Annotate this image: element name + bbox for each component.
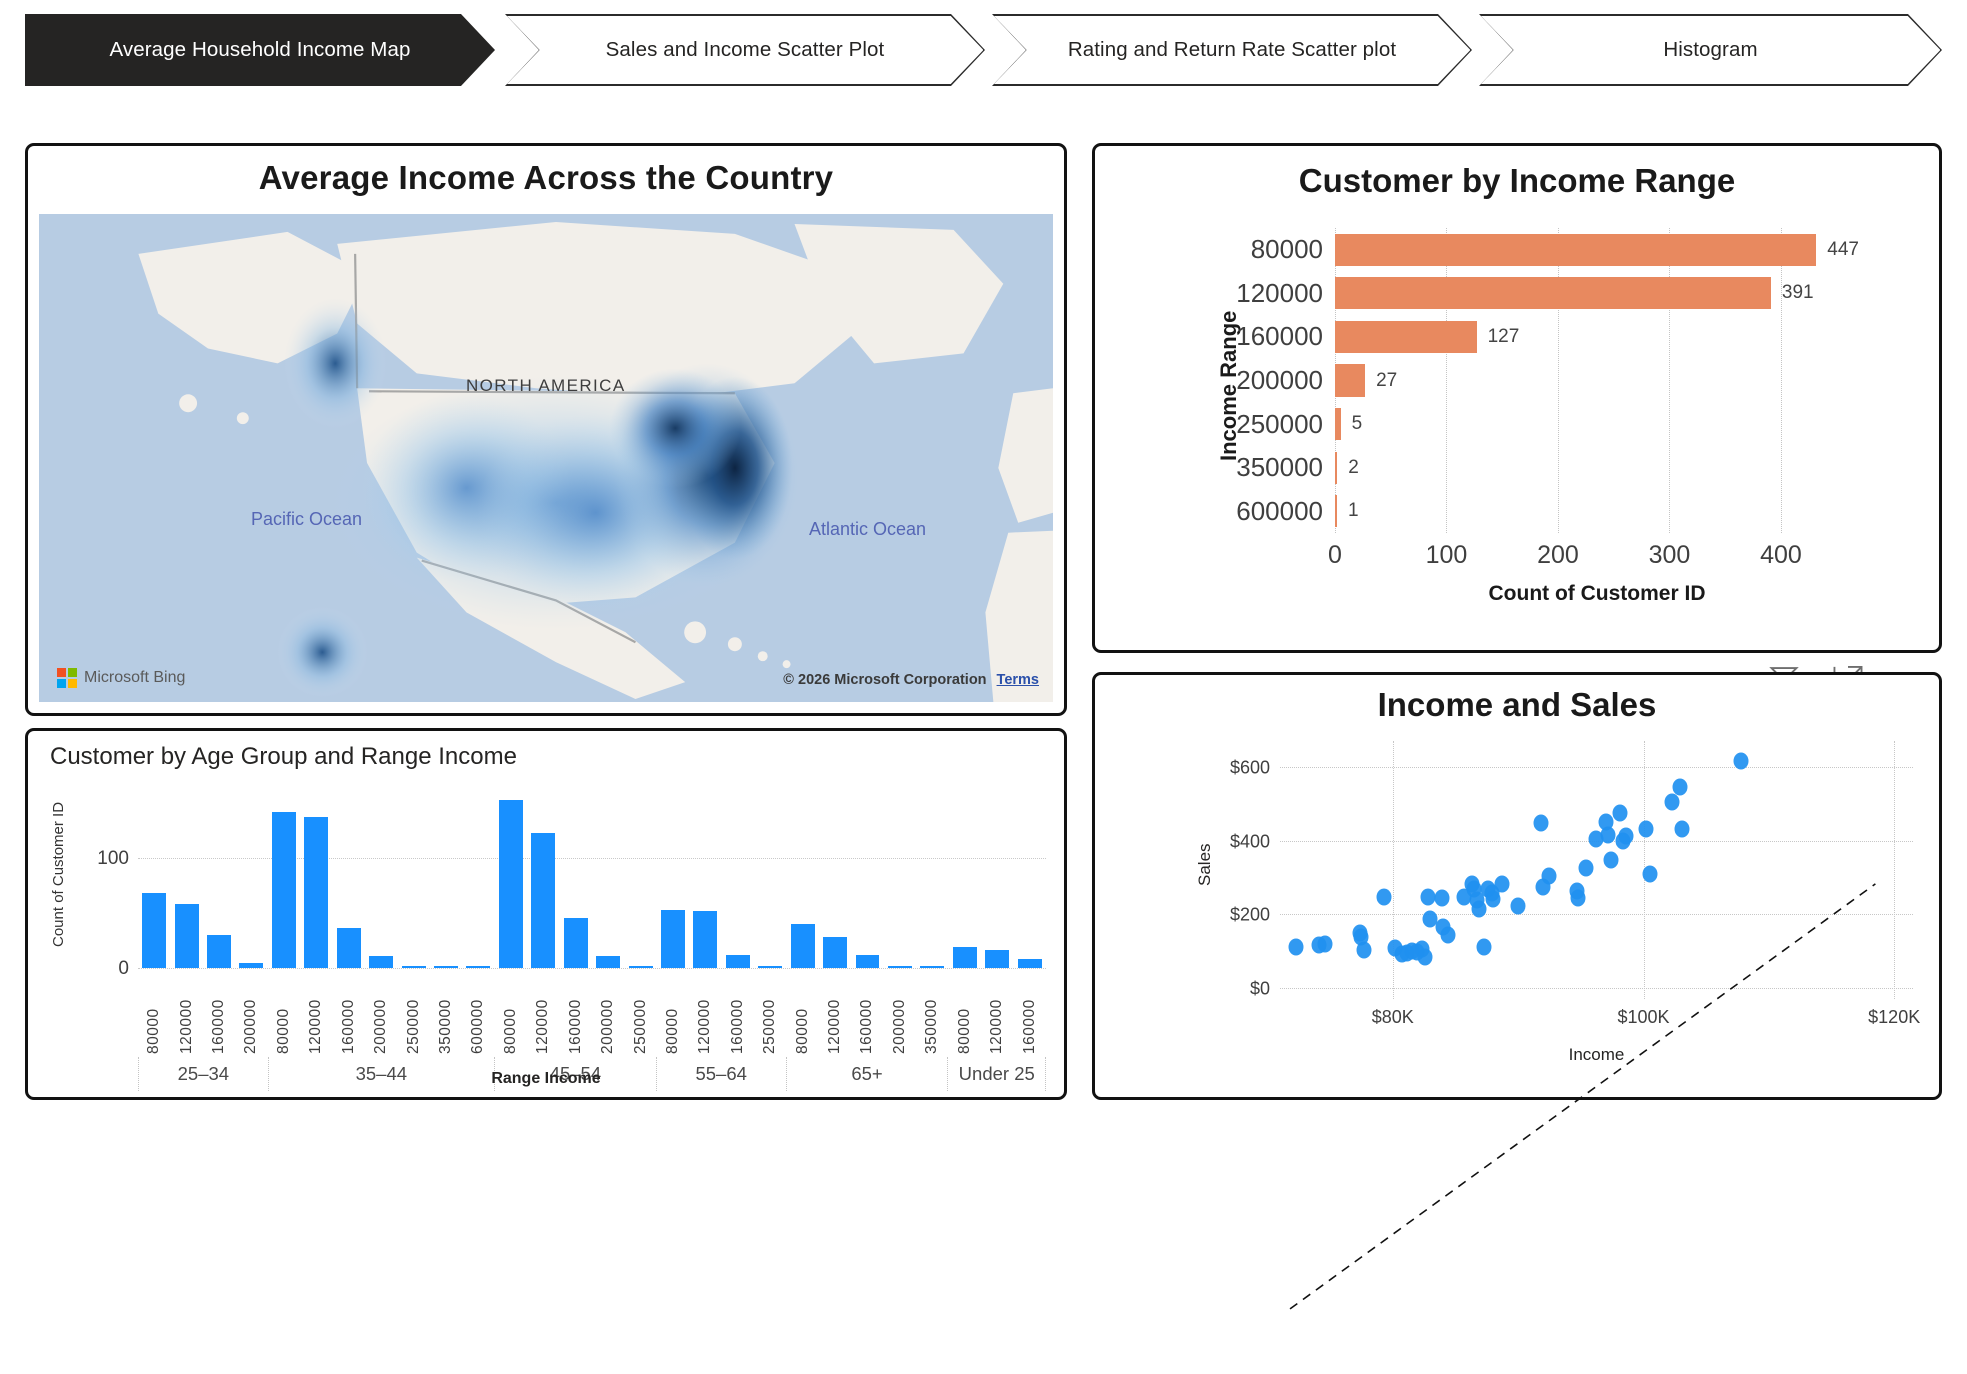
bar[interactable]: [499, 800, 523, 968]
bar[interactable]: [142, 893, 166, 968]
scatter-point[interactable]: [1642, 865, 1657, 882]
bar-slot[interactable]: [851, 786, 883, 968]
tab-rating-and-return-rate-scatter-plot[interactable]: Rating and Return Rate Scatter plot: [992, 14, 1472, 86]
y-axis-tick: $0: [1250, 978, 1270, 999]
bar-slot[interactable]: [430, 786, 462, 968]
x-tick-slot: 200000: [365, 974, 397, 1054]
bar-slot[interactable]: [300, 786, 332, 968]
x-tick-slot: 120000: [527, 974, 559, 1054]
bar-value-label: 391: [1782, 282, 1814, 304]
x-tick-slot: 350000: [430, 974, 462, 1054]
microsoft-logo-icon: [57, 668, 77, 688]
agegroup-x-tick-row: 8000012000016000020000080000120000160000…: [138, 974, 1046, 1054]
scatter-point[interactable]: [1603, 852, 1618, 869]
scatter-point[interactable]: [1672, 778, 1687, 795]
incomerange-x-tick-row: 0100200300400: [1335, 541, 1859, 575]
x-tick-slot: 250000: [754, 974, 786, 1054]
bar[interactable]: [726, 955, 750, 968]
x-tick-slot: 80000: [657, 974, 689, 1054]
bar[interactable]: [791, 924, 815, 968]
y-axis-tick: $600: [1230, 757, 1270, 778]
bar-row[interactable]: 2500005: [1335, 402, 1859, 446]
y-axis-tick: 100: [97, 848, 129, 870]
bar-row[interactable]: 160000127: [1335, 315, 1859, 359]
x-tick-slot: 200000: [235, 974, 267, 1054]
x-tick-slot: 250000: [624, 974, 656, 1054]
x-axis-tick: 160000: [567, 974, 585, 1054]
x-axis-tick: 120000: [178, 974, 196, 1054]
bar-slot[interactable]: [138, 786, 170, 968]
x-axis-tick: 160000: [210, 974, 228, 1054]
bar[interactable]: [1335, 495, 1337, 527]
bar[interactable]: [596, 956, 620, 968]
bar[interactable]: [693, 911, 717, 968]
bar-value-label: 27: [1376, 370, 1397, 392]
customer-by-income-range-panel[interactable]: Customer by Income Range Income Range 80…: [1092, 143, 1942, 653]
income-and-sales-panel[interactable]: Income and Sales Sales $0$200$400$600$80…: [1092, 672, 1942, 1100]
map-copyright: © 2026 Microsoft Corporation: [783, 672, 986, 688]
bar[interactable]: [1018, 959, 1042, 968]
tab-label: Sales and Income Scatter Plot: [606, 38, 885, 62]
x-axis-tick: 300: [1649, 541, 1691, 570]
bar-category-label: 200000: [1236, 365, 1323, 396]
tab-ribbon: Average Household Income Map Sales and I…: [0, 0, 1967, 100]
customer-by-age-group-panel[interactable]: Customer by Age Group and Range Income C…: [25, 728, 1067, 1100]
x-axis-tick: 200000: [599, 974, 617, 1054]
x-tick-slot: 80000: [268, 974, 300, 1054]
x-tick-slot: 160000: [722, 974, 754, 1054]
map-title: Average Income Across the Country: [28, 159, 1064, 197]
scatter-point[interactable]: [1639, 821, 1654, 838]
scatter-point[interactable]: [1618, 828, 1633, 845]
bar-category-label: 160000: [1236, 321, 1323, 352]
bar-row[interactable]: 80000447: [1335, 228, 1859, 272]
x-axis-tick: 160000: [1021, 974, 1039, 1054]
bar[interactable]: [1335, 408, 1341, 440]
scatter-point[interactable]: [1420, 888, 1435, 905]
bar[interactable]: [531, 833, 555, 968]
scatter-x-axis-label: Income: [1280, 1045, 1913, 1065]
map-ocean-label-atlantic: Atlantic Ocean: [809, 519, 926, 540]
bar-slot[interactable]: [786, 786, 818, 968]
bar-slot[interactable]: [235, 786, 267, 968]
x-axis-tick: 200: [1537, 541, 1579, 570]
map-continent-label: NORTH AMERICA: [466, 376, 626, 396]
bar-category-label: 250000: [1236, 409, 1323, 440]
x-tick-slot: 200000: [592, 974, 624, 1054]
x-axis-tick: 120000: [534, 974, 552, 1054]
bar[interactable]: [175, 904, 199, 968]
bar-row[interactable]: 3500002: [1335, 446, 1859, 490]
x-tick-slot: 120000: [981, 974, 1013, 1054]
x-axis-tick: 160000: [340, 974, 358, 1054]
bar-slot[interactable]: [949, 786, 981, 968]
x-tick-slot: 160000: [203, 974, 235, 1054]
bar[interactable]: [466, 966, 490, 968]
bar[interactable]: [272, 812, 296, 968]
bar-value-label: 447: [1827, 239, 1859, 261]
bar[interactable]: [1335, 277, 1771, 309]
bar-slot[interactable]: [981, 786, 1013, 968]
y-axis-tick: $200: [1230, 905, 1270, 926]
bar-slot[interactable]: [722, 786, 754, 968]
bar-slot[interactable]: [333, 786, 365, 968]
tab-sales-and-income-scatter-plot[interactable]: Sales and Income Scatter Plot: [505, 14, 985, 86]
scatter-point[interactable]: [1472, 901, 1487, 918]
map-terms-link[interactable]: Terms: [997, 672, 1039, 688]
bar-value-label: 1: [1348, 500, 1359, 522]
x-axis-tick: 350000: [923, 974, 941, 1054]
x-axis-tick: 80000: [794, 974, 812, 1054]
scatter-point[interactable]: [1289, 939, 1304, 956]
scatter-point[interactable]: [1494, 875, 1509, 892]
x-axis-tick: 160000: [858, 974, 876, 1054]
bar-category-label: 600000: [1236, 496, 1323, 527]
bar[interactable]: [920, 966, 944, 968]
bar-value-label: 2: [1348, 457, 1359, 479]
tab-average-household-income-map[interactable]: Average Household Income Map: [25, 14, 495, 86]
bar-slot[interactable]: [819, 786, 851, 968]
bar[interactable]: [239, 963, 263, 969]
bar-slot[interactable]: [495, 786, 527, 968]
x-axis-tick: 80000: [502, 974, 520, 1054]
scatter-point[interactable]: [1533, 814, 1548, 831]
x-tick-slot: 80000: [786, 974, 818, 1054]
bar[interactable]: [953, 947, 977, 968]
bar[interactable]: [207, 935, 231, 968]
x-tick-slot: 80000: [138, 974, 170, 1054]
bar[interactable]: [1335, 452, 1337, 484]
scatter-point[interactable]: [1665, 793, 1680, 810]
bing-logo: Microsoft Bing: [57, 668, 185, 688]
tab-label: Average Household Income Map: [110, 38, 411, 62]
bar-value-label: 127: [1488, 326, 1520, 348]
x-axis-tick: 80000: [275, 974, 293, 1054]
agegroup-chart-title: Customer by Age Group and Range Income: [50, 743, 517, 771]
bar[interactable]: [661, 910, 685, 968]
average-income-map-panel[interactable]: Average Income Across the Country: [25, 143, 1067, 716]
x-tick-slot: 600000: [462, 974, 494, 1054]
tab-histogram[interactable]: Histogram: [1479, 14, 1942, 86]
bar-slot[interactable]: [365, 786, 397, 968]
bar[interactable]: [856, 955, 880, 968]
bar[interactable]: [629, 966, 653, 968]
bar-slot[interactable]: [884, 786, 916, 968]
bar[interactable]: [985, 950, 1009, 968]
bar[interactable]: [1335, 364, 1365, 396]
bar-slot[interactable]: [592, 786, 624, 968]
x-tick-slot: 160000: [333, 974, 365, 1054]
bar[interactable]: [369, 956, 393, 968]
bar[interactable]: [564, 918, 588, 968]
x-tick-slot: 160000: [851, 974, 883, 1054]
x-tick-slot: 120000: [689, 974, 721, 1054]
tab-label: Histogram: [1663, 38, 1757, 62]
map-attribution: © 2026 Microsoft Corporation Terms: [783, 672, 1039, 688]
x-axis-tick: 120000: [826, 974, 844, 1054]
bar[interactable]: [1335, 321, 1477, 353]
x-tick-slot: 120000: [170, 974, 202, 1054]
scatter-point[interactable]: [1418, 948, 1433, 965]
scatter-plot-area: $0$200$400$600$80K$100K$120K: [1280, 741, 1913, 999]
scatter-point[interactable]: [1675, 820, 1690, 837]
bar-slot[interactable]: [203, 786, 235, 968]
bar-row[interactable]: 20000027: [1335, 359, 1859, 403]
bar-row[interactable]: 120000391: [1335, 272, 1859, 316]
scatter-point[interactable]: [1511, 898, 1526, 915]
bar-slot[interactable]: [689, 786, 721, 968]
bar[interactable]: [402, 966, 426, 968]
scatter-point[interactable]: [1542, 868, 1557, 885]
bing-provider-label: Microsoft Bing: [84, 669, 185, 687]
bar-slot[interactable]: [527, 786, 559, 968]
bar[interactable]: [758, 966, 782, 968]
map-canvas[interactable]: NORTH AMERICA Pacific Ocean Atlantic Oce…: [39, 214, 1053, 702]
x-axis-tick: 200000: [891, 974, 909, 1054]
x-axis-tick: 350000: [437, 974, 455, 1054]
y-axis-tick: $400: [1230, 831, 1270, 852]
scatter-y-axis-label: Sales: [1195, 815, 1215, 915]
scatter-point[interactable]: [1356, 941, 1371, 958]
x-axis-tick: 400: [1760, 541, 1802, 570]
bar-value-label: 5: [1352, 413, 1363, 435]
bar-slot[interactable]: [268, 786, 300, 968]
bar[interactable]: [304, 817, 328, 968]
x-tick-slot: 80000: [949, 974, 981, 1054]
map-graphic: [39, 214, 1053, 702]
x-axis-tick: 160000: [729, 974, 747, 1054]
x-axis-tick: 250000: [761, 974, 779, 1054]
agegroup-plot-area: 0100: [138, 786, 1046, 968]
map-ocean-label-pacific: Pacific Ocean: [251, 509, 362, 530]
bar[interactable]: [434, 966, 458, 968]
bar[interactable]: [337, 928, 361, 968]
x-axis-tick: 120000: [988, 974, 1006, 1054]
incomerange-plot-area: 8000044712000039116000012720000027250000…: [1335, 228, 1859, 533]
x-axis-tick: 80000: [664, 974, 682, 1054]
x-tick-slot: 80000: [495, 974, 527, 1054]
x-tick-slot: 200000: [884, 974, 916, 1054]
bar-slot[interactable]: [624, 786, 656, 968]
agegroup-y-axis-label: Count of Customer ID: [50, 789, 67, 959]
bar-category-label: 120000: [1236, 278, 1323, 309]
x-axis-tick: 200000: [372, 974, 390, 1054]
x-tick-slot: 350000: [916, 974, 948, 1054]
scatter-point[interactable]: [1601, 826, 1616, 843]
bar-slot[interactable]: [397, 786, 429, 968]
bar-slot[interactable]: [1013, 786, 1045, 968]
scatter-point[interactable]: [1571, 889, 1586, 906]
scatter-point[interactable]: [1612, 805, 1627, 822]
bar-category-label: 80000: [1251, 234, 1323, 265]
scatter-point[interactable]: [1377, 888, 1392, 905]
x-axis-tick: 250000: [632, 974, 650, 1054]
scatter-point[interactable]: [1318, 936, 1333, 953]
x-tick-slot: 120000: [819, 974, 851, 1054]
bar-slot[interactable]: [754, 786, 786, 968]
x-tick-slot: 250000: [397, 974, 429, 1054]
x-tick-slot: 160000: [1013, 974, 1045, 1054]
scatter-point[interactable]: [1434, 890, 1449, 907]
x-axis-tick: 600000: [469, 974, 487, 1054]
bar-category-label: 350000: [1236, 452, 1323, 483]
scatter-point[interactable]: [1440, 926, 1455, 943]
agegroup-x-axis-label: Range Income: [28, 1070, 1064, 1088]
bar-row[interactable]: 6000001: [1335, 489, 1859, 533]
bar[interactable]: [1335, 234, 1816, 266]
x-tick-slot: 160000: [559, 974, 591, 1054]
bar-slot[interactable]: [657, 786, 689, 968]
scatter-point[interactable]: [1734, 753, 1749, 770]
incomerange-chart-title: Customer by Income Range: [1095, 162, 1939, 200]
tab-label: Rating and Return Rate Scatter plot: [1068, 38, 1396, 62]
x-axis-tick: 250000: [405, 974, 423, 1054]
bar[interactable]: [888, 966, 912, 968]
x-axis-tick: 120000: [696, 974, 714, 1054]
x-axis-tick: 120000: [307, 974, 325, 1054]
x-axis-tick: 80000: [145, 974, 163, 1054]
bar-slot[interactable]: [170, 786, 202, 968]
gridline: 0: [138, 968, 1046, 969]
x-axis-tick: 80000: [956, 974, 974, 1054]
bar-slot[interactable]: [559, 786, 591, 968]
bar-slot[interactable]: [916, 786, 948, 968]
bar[interactable]: [823, 937, 847, 968]
scatter-chart-title: Income and Sales: [1095, 686, 1939, 724]
x-axis-tick: 100: [1426, 541, 1468, 570]
scatter-point[interactable]: [1578, 860, 1593, 877]
bar-slot[interactable]: [462, 786, 494, 968]
x-axis-tick: 0: [1328, 541, 1342, 570]
y-axis-tick: 0: [118, 958, 129, 980]
x-tick-slot: 120000: [300, 974, 332, 1054]
x-axis-tick: 200000: [242, 974, 260, 1054]
scatter-point[interactable]: [1477, 939, 1492, 956]
scatter-point[interactable]: [1486, 890, 1501, 907]
incomerange-x-axis-label: Count of Customer ID: [1335, 582, 1859, 606]
